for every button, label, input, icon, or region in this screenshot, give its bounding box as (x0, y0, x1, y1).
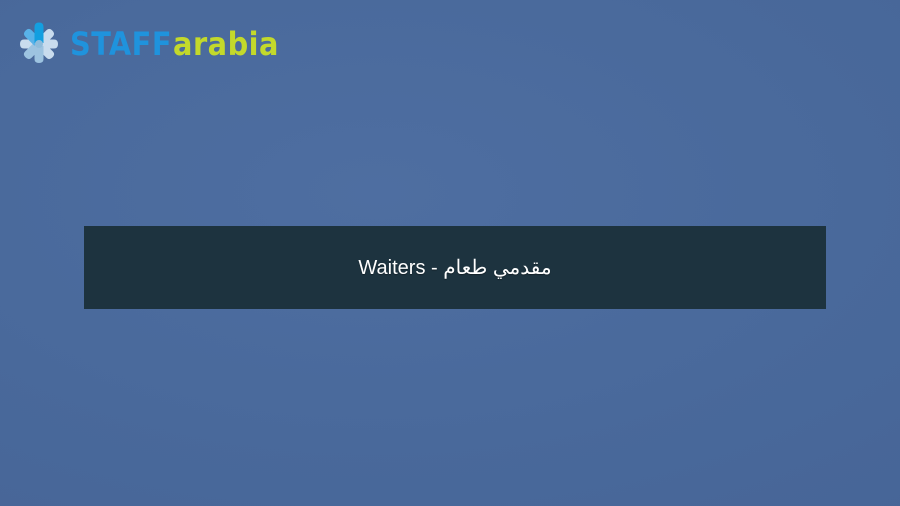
snowflake-star-icon (14, 19, 64, 69)
brand-wordmark-arabia: arabia (173, 28, 279, 60)
brand-wordmark: STAFF arabia (70, 28, 279, 60)
brand-logo[interactable]: STAFF arabia (14, 18, 279, 70)
presentation-slide: STAFF arabia مقدمي طعام - Waiters (0, 0, 900, 506)
slide-title: مقدمي طعام - Waiters (358, 255, 551, 281)
brand-wordmark-staff: STAFF (70, 28, 172, 60)
title-banner: مقدمي طعام - Waiters (84, 226, 826, 309)
